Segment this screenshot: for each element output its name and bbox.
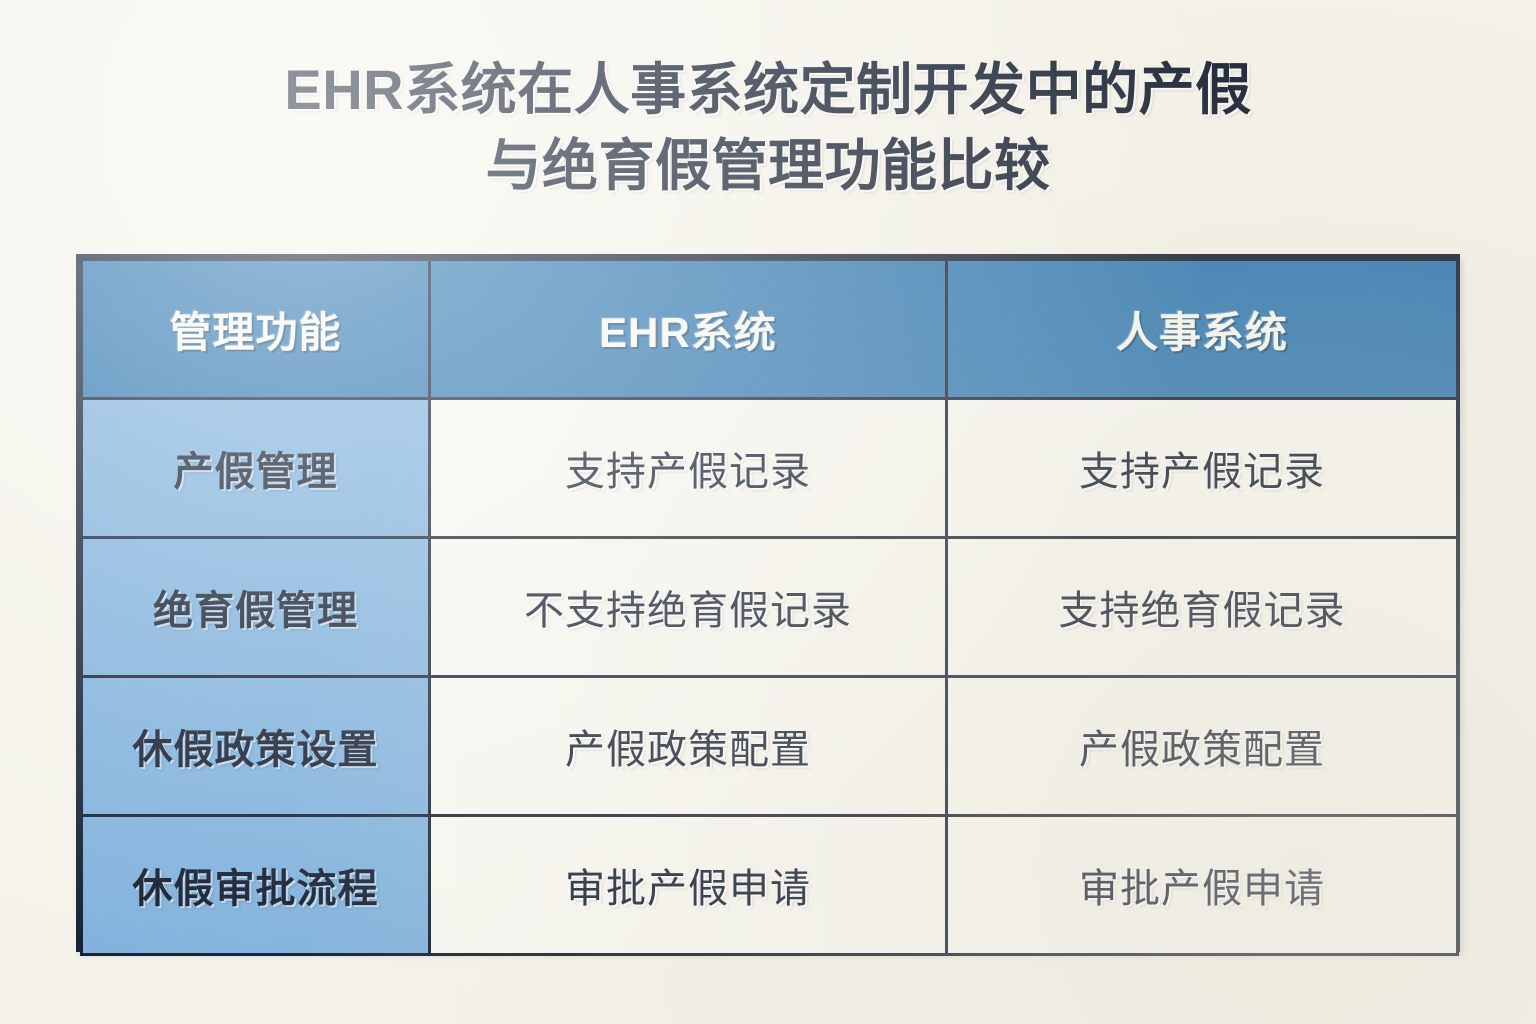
row-feature-label: 绝育假管理: [82, 538, 430, 677]
page-title-line-2: 与绝育假管理功能比较: [0, 128, 1536, 204]
cell-ehr-value: 审批产假申请: [430, 816, 947, 955]
column-header-hr-system: 人事系统: [947, 260, 1458, 399]
column-header-feature: 管理功能: [82, 260, 430, 399]
table-row: 休假政策设置 产假政策配置 产假政策配置: [82, 677, 1458, 816]
table-header-row: 管理功能 EHR系统 人事系统: [82, 260, 1458, 399]
cell-hr-value: 支持绝育假记录: [947, 538, 1458, 677]
cell-ehr-value: 支持产假记录: [430, 399, 947, 538]
comparison-table: 管理功能 EHR系统 人事系统 产假管理 支持产假记录 支持产假记录 绝育假管理…: [80, 258, 1459, 956]
infographic-page: EHR系统在人事系统定制开发中的产假 与绝育假管理功能比较 管理功能 EHR系统…: [0, 0, 1536, 1024]
row-feature-label: 产假管理: [82, 399, 430, 538]
cell-hr-value: 产假政策配置: [947, 677, 1458, 816]
table-row: 休假审批流程 审批产假申请 审批产假申请: [82, 816, 1458, 955]
cell-hr-value: 支持产假记录: [947, 399, 1458, 538]
column-header-ehr-system: EHR系统: [430, 260, 947, 399]
cell-ehr-value: 不支持绝育假记录: [430, 538, 947, 677]
cell-hr-value: 审批产假申请: [947, 816, 1458, 955]
cell-ehr-value: 产假政策配置: [430, 677, 947, 816]
page-title-line-1: EHR系统在人事系统定制开发中的产假: [0, 52, 1536, 128]
comparison-table-container: 管理功能 EHR系统 人事系统 产假管理 支持产假记录 支持产假记录 绝育假管理…: [76, 254, 1460, 952]
row-feature-label: 休假审批流程: [82, 816, 430, 955]
page-title: EHR系统在人事系统定制开发中的产假 与绝育假管理功能比较: [0, 52, 1536, 204]
table-row: 绝育假管理 不支持绝育假记录 支持绝育假记录: [82, 538, 1458, 677]
table-body: 产假管理 支持产假记录 支持产假记录 绝育假管理 不支持绝育假记录 支持绝育假记…: [82, 399, 1458, 955]
table-row: 产假管理 支持产假记录 支持产假记录: [82, 399, 1458, 538]
row-feature-label: 休假政策设置: [82, 677, 430, 816]
table-header: 管理功能 EHR系统 人事系统: [82, 260, 1458, 399]
